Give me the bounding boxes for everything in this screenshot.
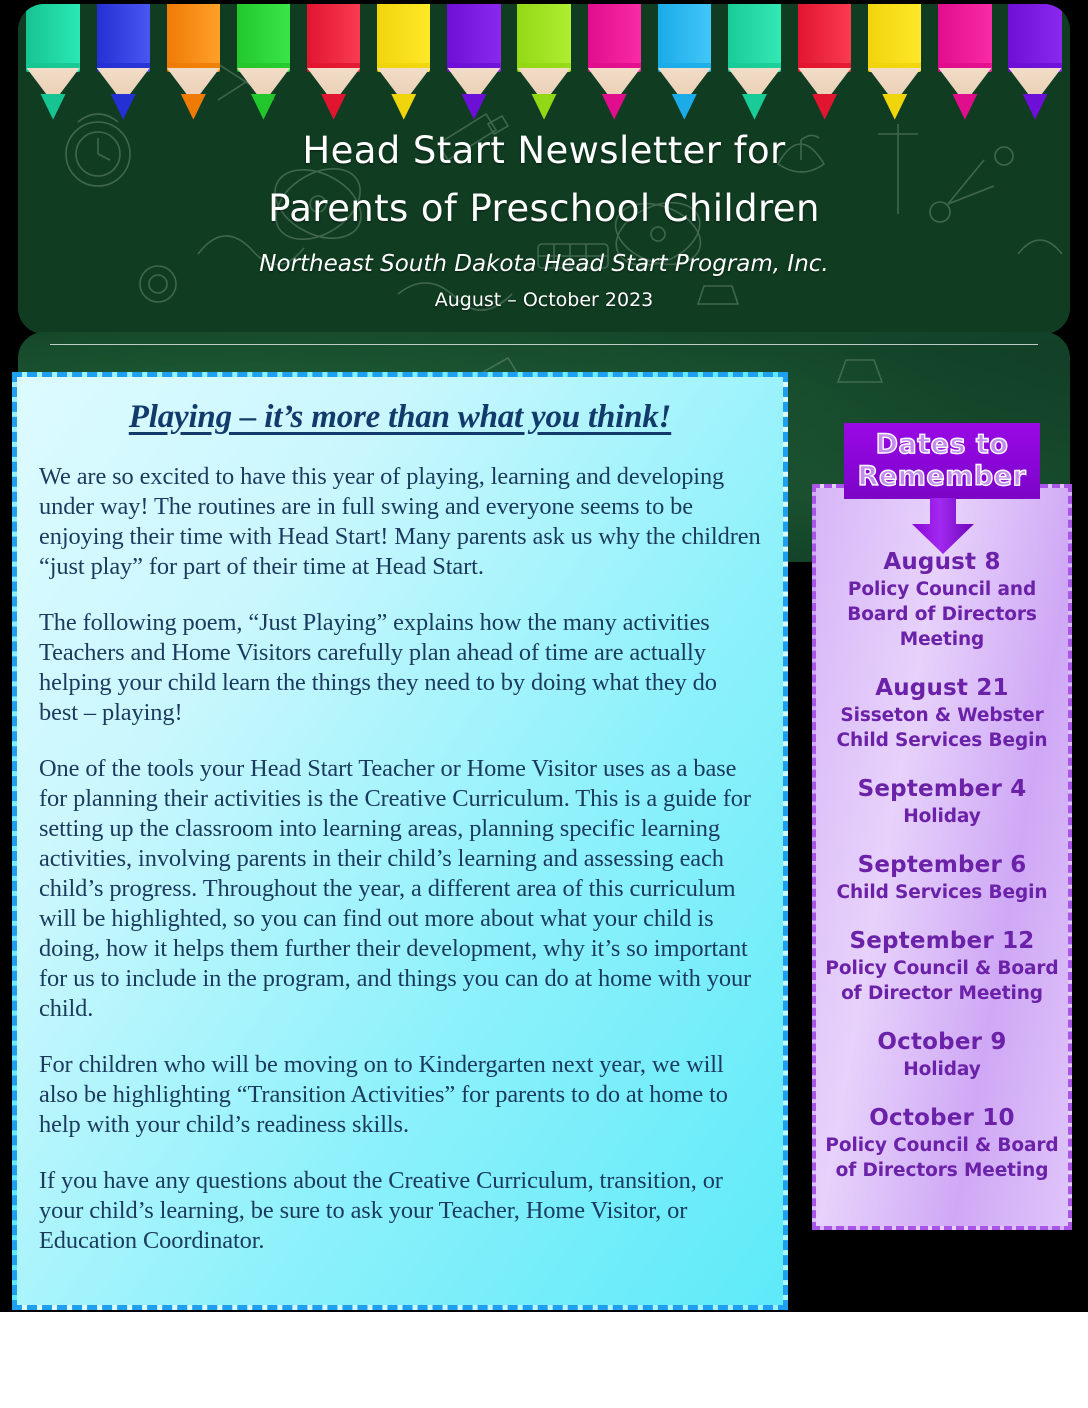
date-description: Child Services Begin: [824, 880, 1060, 905]
date-title: September 4: [824, 775, 1060, 804]
article-paragraph: The following poem, “Just Playing” expla…: [39, 608, 761, 728]
issue-date-range: August – October 2023: [18, 284, 1070, 316]
date-title: October 9: [824, 1028, 1060, 1057]
pencil-row-decoration: [18, 4, 1070, 122]
date-title: September 12: [824, 927, 1060, 956]
date-description: Policy Council & Board of Directors Meet…: [824, 1133, 1060, 1183]
date-item: October 9 Holiday: [824, 1028, 1060, 1082]
date-description: Holiday: [824, 804, 1060, 829]
header-text-block: Head Start Newsletter for Parents of Pre…: [18, 122, 1070, 316]
date-description: Holiday: [824, 1057, 1060, 1082]
date-title: October 10: [824, 1104, 1060, 1133]
date-item: September 6 Child Services Begin: [824, 851, 1060, 905]
date-item: August 8 Policy Council and Board of Dir…: [824, 548, 1060, 652]
article-paragraph: If you have any questions about the Crea…: [39, 1166, 761, 1256]
date-title: September 6: [824, 851, 1060, 880]
date-item: October 10 Policy Council & Board of Dir…: [824, 1104, 1060, 1183]
article-paragraph: We are so excited to have this year of p…: [39, 462, 761, 582]
date-description: Policy Council & Board of Director Meeti…: [824, 956, 1060, 1006]
date-title: August 21: [824, 674, 1060, 703]
date-item: September 4 Holiday: [824, 775, 1060, 829]
dates-to-remember-banner: Dates to Remember: [844, 423, 1040, 499]
banner-line-2: Remember: [858, 461, 1027, 493]
main-article-box: Playing – it’s more than what you think!…: [12, 372, 788, 1310]
date-description: Policy Council and Board of Directors Me…: [824, 577, 1060, 652]
banner-line-1: Dates to: [876, 429, 1009, 461]
newsletter-title-line-1: Head Start Newsletter for: [18, 122, 1070, 180]
date-item: August 21 Sisseton & Webster Child Servi…: [824, 674, 1060, 753]
date-item: September 12 Policy Council & Board of D…: [824, 927, 1060, 1006]
newsletter-header: Head Start Newsletter for Parents of Pre…: [18, 4, 1070, 334]
newsletter-page: Head Start Newsletter for Parents of Pre…: [0, 0, 1088, 1408]
newsletter-title-line-2: Parents of Preschool Children: [18, 180, 1070, 238]
article-paragraph: One of the tools your Head Start Teacher…: [39, 754, 761, 1024]
date-description: Sisseton & Webster Child Services Begin: [824, 703, 1060, 753]
organization-name: Northeast South Dakota Head Start Progra…: [18, 244, 1070, 284]
article-paragraph: For children who will be moving on to Ki…: [39, 1050, 761, 1140]
down-arrow-icon: [908, 498, 978, 554]
dates-to-remember-panel: August 8 Policy Council and Board of Dir…: [812, 484, 1072, 1230]
article-heading: Playing – it’s more than what you think!: [39, 399, 761, 436]
